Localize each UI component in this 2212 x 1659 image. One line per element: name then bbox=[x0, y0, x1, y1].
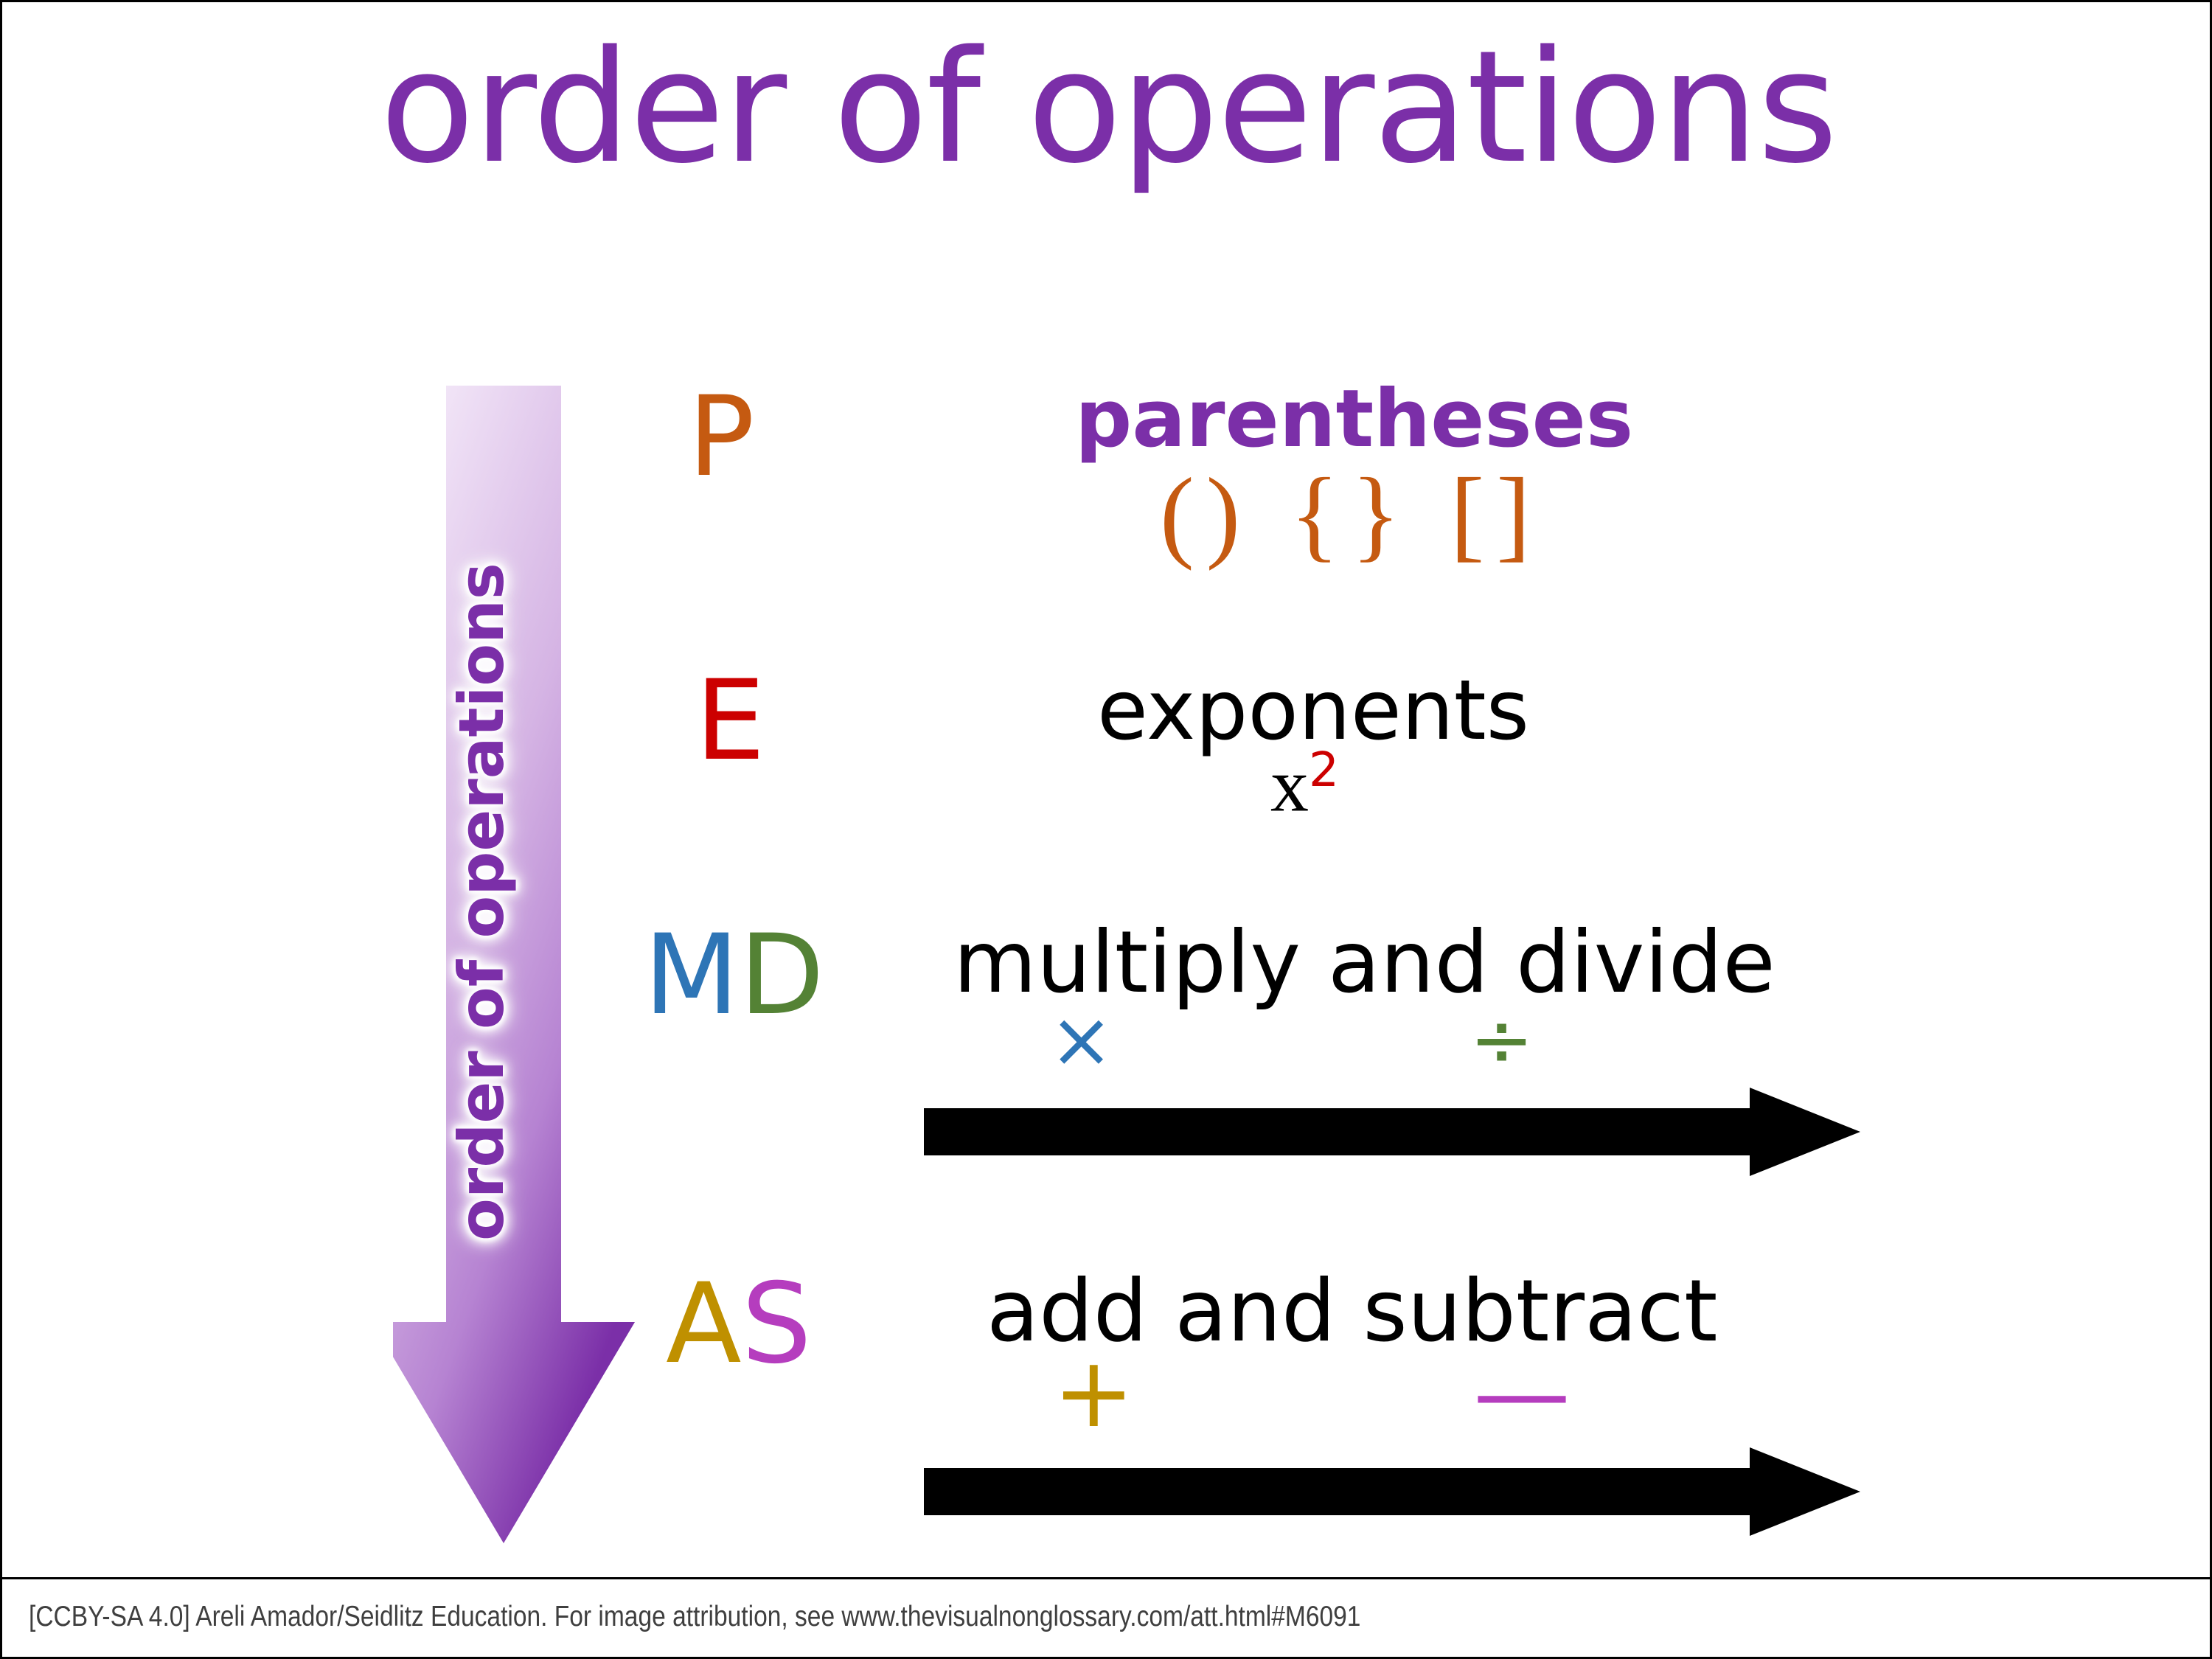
acronym-letters-md: MD bbox=[644, 920, 824, 1031]
exponent-power: 2 bbox=[1309, 742, 1339, 798]
minus-sign-icon: — bbox=[1473, 1344, 1571, 1441]
footer-divider bbox=[2, 1577, 2212, 1579]
acronym-letter-a: A bbox=[666, 1260, 742, 1388]
attribution-footer: [CCBY-SA 4.0] Areli Amador/Seidlitz Educ… bbox=[29, 1601, 1360, 1633]
divide-sign-icon: ÷ bbox=[1470, 1001, 1534, 1078]
symbols-add-subtract: + — bbox=[987, 1344, 1562, 1447]
symbols-brackets: () {} [] bbox=[1160, 463, 1543, 566]
acronym-letter-p: P bbox=[688, 382, 754, 493]
description-multiply-divide: multiply and divide bbox=[953, 920, 1775, 1006]
exponent-base: x bbox=[1270, 743, 1309, 828]
description-exponents: exponents bbox=[1097, 669, 1529, 752]
order-direction-arrow-icon bbox=[393, 386, 644, 1543]
page-title: order of operations bbox=[2, 30, 2212, 185]
acronym-letters-as: AS bbox=[666, 1269, 812, 1380]
description-parentheses: parentheses bbox=[1075, 380, 1633, 459]
plus-sign-icon: + bbox=[1053, 1344, 1135, 1441]
poster-canvas: order of operations order of operations … bbox=[0, 0, 2212, 1659]
multiply-sign-icon: × bbox=[1049, 1001, 1113, 1078]
acronym-letter-m: M bbox=[644, 911, 739, 1040]
left-to-right-arrow-icon-add-subtract bbox=[924, 1447, 1860, 1536]
left-to-right-arrow-icon-multiply-divide bbox=[924, 1088, 1860, 1176]
acronym-letter-e: E bbox=[695, 666, 765, 776]
acronym-letter-d: D bbox=[739, 911, 824, 1040]
acronym-letter-s: S bbox=[742, 1260, 812, 1388]
symbols-exponent-expression: x2 bbox=[1270, 747, 1339, 824]
symbols-multiply-divide: × ÷ bbox=[953, 1001, 1528, 1082]
